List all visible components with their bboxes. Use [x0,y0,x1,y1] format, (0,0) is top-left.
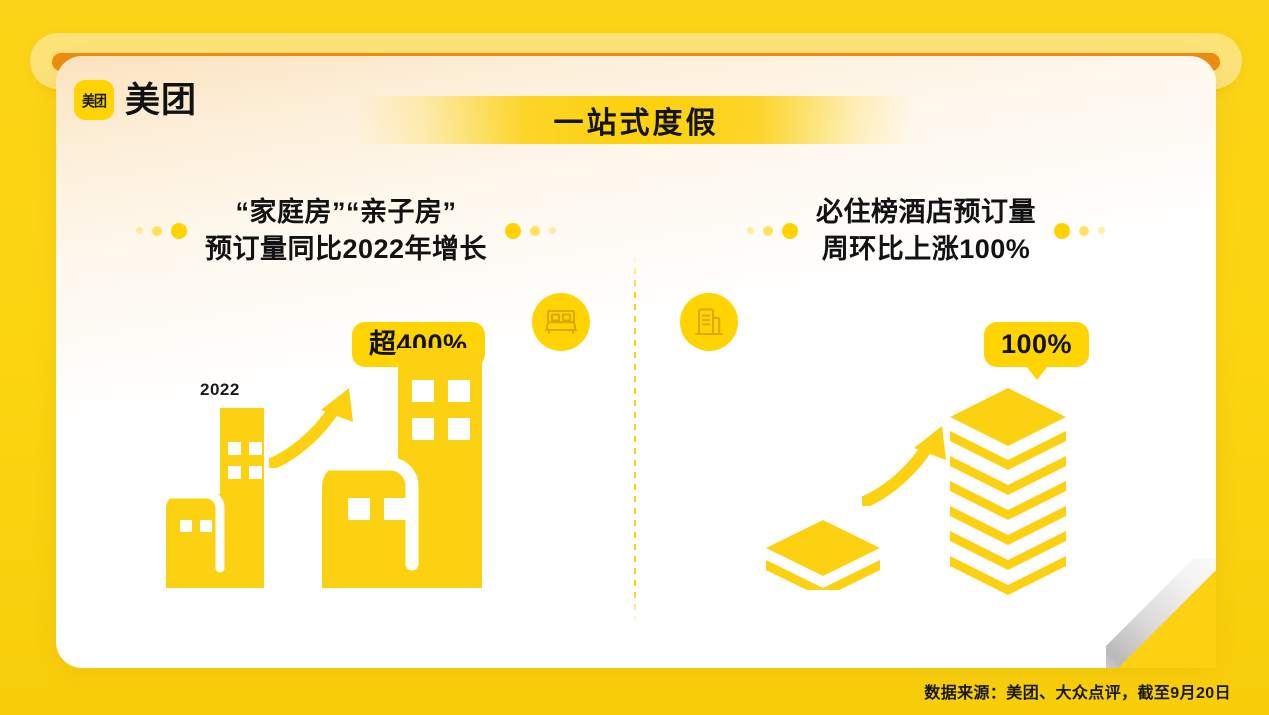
dot-icon [171,223,187,239]
column-heading-row: 必住榜酒店预订量 周环比上涨100% [636,194,1216,267]
data-source-note: 数据来源：美团、大众点评，截至9月20日 [924,679,1231,703]
banner: 一站式度假 [356,96,916,144]
dot-icon [530,226,540,236]
logo-mark-text: 美团 [82,90,106,111]
dot-icon [747,227,754,234]
dot-icon [152,226,162,236]
column-graphic: 超400% 2022 [56,280,636,630]
small-building-icon [166,408,264,588]
bed-icon [532,293,590,351]
column-family-rooms: “家庭房”“亲子房” 预订量同比2022年增长 [56,170,636,640]
brand-name: 美团 [125,83,197,118]
infographic-stage: 美团 美团 一站式度假 “家庭房”“亲子房” 预订量同比2 [0,0,1269,715]
page-curl-mask [1118,570,1216,668]
small-stack-icon [764,518,882,590]
logo-mark-icon: 美团 [74,80,114,120]
dot-icon [136,227,143,234]
growth-arrow-icon [862,422,958,506]
large-stack-icon [948,386,1068,598]
brand-logo: 美团 美团 [74,80,197,120]
decorative-dots-right [505,223,556,239]
dot-icon [549,227,556,234]
growth-callout-value: 100% [1001,329,1072,359]
content-card: 美团 美团 一站式度假 “家庭房”“亲子房” 预订量同比2 [56,56,1216,668]
column-heading-line2: 预订量同比2022年增长 [205,231,487,268]
large-building-icon [322,348,482,588]
dot-icon [1079,226,1089,236]
hotel-icon [680,293,738,351]
dot-icon [782,223,798,239]
column-heading: “家庭房”“亲子房” 预订量同比2022年增长 [205,194,487,267]
column-heading-line2: 周环比上涨100% [816,231,1036,268]
decorative-dots-left [747,223,798,239]
column-heading-line1: 必住榜酒店预订量 [816,194,1036,231]
column-heading-line1: “家庭房”“亲子房” [205,194,487,231]
dot-icon [505,223,521,239]
dot-icon [1054,223,1070,239]
column-heading: 必住榜酒店预订量 周环比上涨100% [816,194,1036,267]
decorative-dots-right [1054,223,1105,239]
page-title: 一站式度假 [554,98,719,142]
baseline-year-label: 2022 [200,380,240,400]
column-heading-row: “家庭房”“亲子房” 预订量同比2022年增长 [56,194,636,267]
columns-wrapper: “家庭房”“亲子房” 预订量同比2022年增长 [56,170,1216,640]
decorative-dots-left [136,223,187,239]
dot-icon [763,226,773,236]
dot-icon [1098,227,1105,234]
growth-callout-bubble: 100% [984,322,1089,367]
